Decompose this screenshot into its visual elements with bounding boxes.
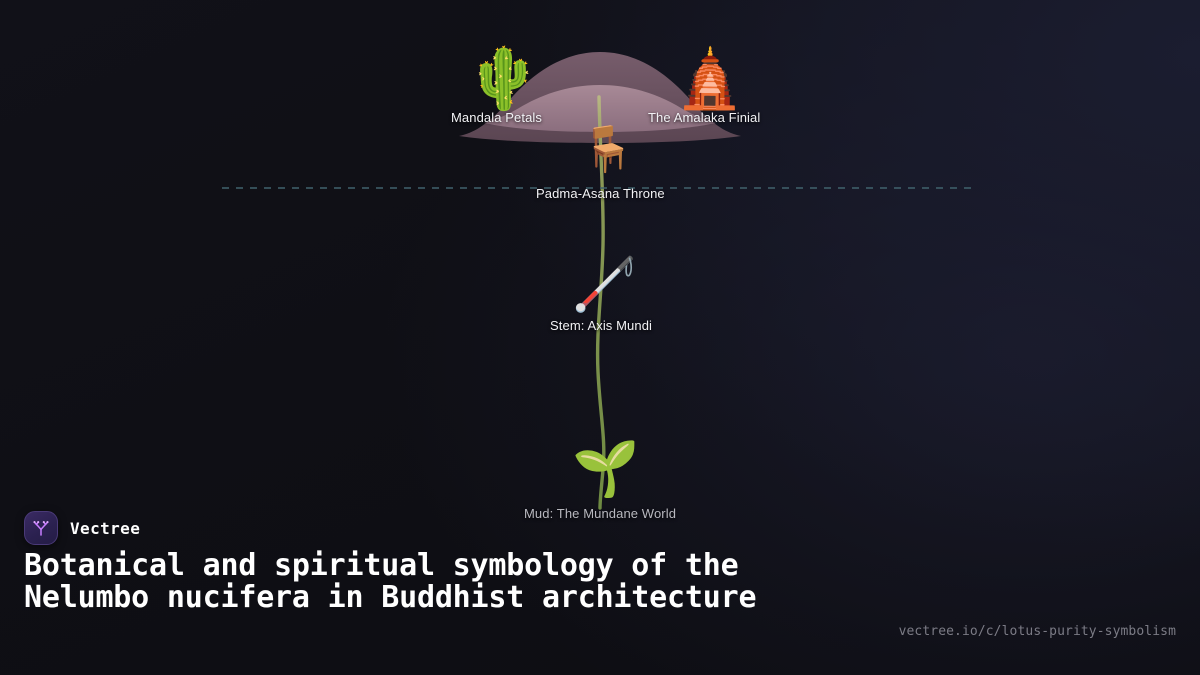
node-label-stem-axis-mundi: Stem: Axis Mundi [550, 318, 652, 334]
probing-cane-icon: 🦯 [572, 259, 637, 311]
node-label-mud-mundane-world: Mud: The Mundane World [524, 506, 676, 522]
permalink-url: vectree.io/c/lotus-purity-symbolism [899, 624, 1176, 639]
brand-lockup: Vectree [24, 511, 140, 545]
node-label-padma-asana-throne: Padma-Asana Throne [536, 186, 665, 202]
vectree-tree-mark-icon [24, 511, 58, 545]
chair-icon: 🪑 [580, 128, 635, 172]
node-label-mandala-petals: Mandala Petals [451, 110, 542, 126]
page-title: Botanical and spiritual symbology of the… [24, 550, 844, 614]
seedling-icon: 🌱 [572, 442, 639, 496]
hindu-temple-icon: 🛕 [674, 49, 746, 107]
brand-name: Vectree [70, 519, 140, 538]
node-label-amalaka-finial: The Amalaka Finial [648, 110, 760, 126]
tree-glyph [31, 518, 51, 538]
rosette-flower-icon: 🌵 [466, 49, 541, 109]
